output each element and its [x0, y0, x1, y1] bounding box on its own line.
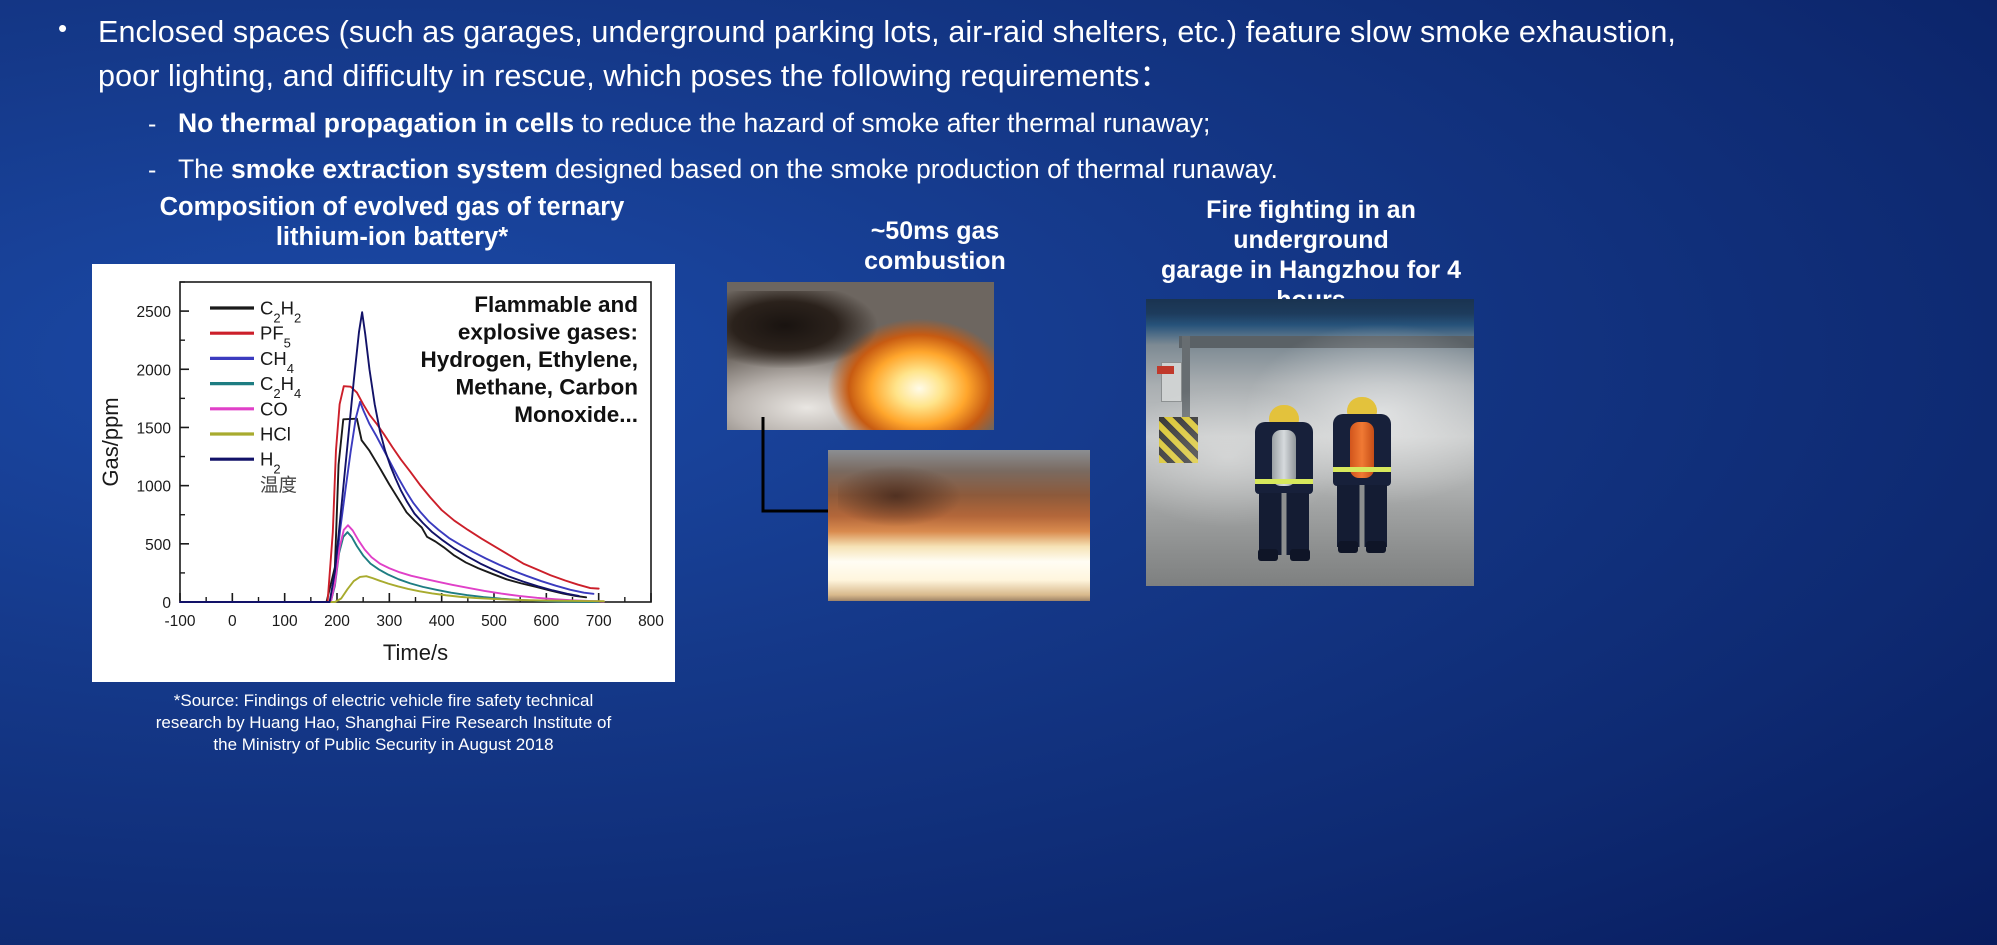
svg-text:2500: 2500	[137, 304, 172, 321]
chart-caption-line2: lithium-ion battery*	[276, 223, 508, 251]
sub-bullet-group: - No thermal propagation in cells to red…	[148, 104, 1938, 190]
chart-annotation-line-3: Hydrogen, Ethylene,	[420, 347, 638, 372]
chart-svg: 05001000150020002500-1000100200300400500…	[92, 264, 675, 682]
boot-left	[1338, 541, 1358, 553]
reflective-stripe	[1255, 479, 1313, 484]
sub-bullet-2-bold: smoke extraction system	[231, 154, 548, 184]
sub-bullet-2-pre: The	[178, 154, 231, 184]
gas-composition-chart: 05001000150020002500-1000100200300400500…	[92, 264, 675, 682]
legend-label-HCl: HCl	[260, 424, 291, 445]
leg-gap	[1282, 493, 1287, 555]
svg-text:700: 700	[586, 613, 612, 630]
svg-text:0: 0	[162, 595, 171, 612]
svg-text:200: 200	[324, 613, 350, 630]
garage-scene-art	[1146, 299, 1474, 586]
leg-gap	[1360, 485, 1365, 547]
svg-text:Time/s: Time/s	[383, 640, 448, 665]
air-tank	[1272, 430, 1296, 486]
dash-marker-icon: -	[148, 106, 178, 144]
svg-text:300: 300	[376, 613, 402, 630]
fire-image-art	[727, 282, 994, 430]
svg-text:-100: -100	[164, 613, 195, 630]
chart-annotation-line-2: explosive gases:	[458, 320, 638, 345]
chart-caption: Composition of evolved gas of ternary li…	[92, 192, 692, 252]
sub-bullet-2-rest: designed based on the smoke production o…	[548, 154, 1278, 184]
svg-text:100: 100	[272, 613, 298, 630]
svg-text:2000: 2000	[137, 362, 172, 379]
legend-label-CO: CO	[260, 398, 288, 419]
legend-label-temperature: 温度	[260, 476, 297, 497]
svg-text:500: 500	[145, 537, 171, 554]
combustion-caption: ~50ms gas combustion	[805, 216, 1065, 276]
slide-canvas: • Enclosed spaces (such as garages, unde…	[0, 0, 1997, 945]
boot-right	[1290, 549, 1310, 561]
boot-left	[1258, 549, 1278, 561]
svg-text:400: 400	[429, 613, 455, 630]
svg-text:Gas/ppm: Gas/ppm	[98, 398, 123, 487]
bullet-level1-line1: Enclosed spaces (such as garages, underg…	[98, 15, 1676, 49]
firefighting-caption-line1: Fire fighting in an underground	[1206, 196, 1416, 254]
source-note: *Source: Findings of electric vehicle fi…	[92, 690, 675, 755]
bullet-list: • Enclosed spaces (such as garages, unde…	[58, 10, 1938, 196]
sub-bullet-2-text: The smoke extraction system designed bas…	[178, 150, 1278, 190]
combustion-caption-line2: combustion	[864, 247, 1006, 275]
firefighting-panel: Fire fighting in an underground garage i…	[1146, 195, 1806, 345]
reflective-stripe	[1333, 467, 1391, 472]
svg-text:800: 800	[638, 613, 664, 630]
dash-marker-icon: -	[148, 152, 178, 190]
sub-bullet-1-bold: No thermal propagation in cells	[178, 108, 574, 138]
chart-panel: Composition of evolved gas of ternary li…	[92, 192, 692, 755]
chart-caption-line1: Composition of evolved gas of ternary	[160, 193, 625, 221]
combustion-caption-line1: ~50ms gas	[871, 217, 1000, 245]
sub-bullet-2: - The smoke extraction system designed b…	[148, 150, 1938, 190]
bullet-level1-line2: poor lighting, and difficulty in rescue,…	[98, 59, 1170, 93]
combustion-photo-bottom	[828, 450, 1090, 601]
bullet-level1-text: Enclosed spaces (such as garages, underg…	[98, 10, 1676, 98]
firefighters-photo	[1146, 299, 1474, 586]
bullet-level1: • Enclosed spaces (such as garages, unde…	[58, 10, 1938, 98]
svg-text:0: 0	[228, 613, 237, 630]
source-line-3: the Ministry of Public Security in Augus…	[213, 735, 553, 754]
chart-annotation-line-1: Flammable and	[474, 292, 638, 317]
svg-text:1500: 1500	[137, 421, 172, 438]
fire-closeup-image-art	[828, 450, 1090, 601]
svg-text:500: 500	[481, 613, 507, 630]
source-line-2: research by Huang Hao, Shanghai Fire Res…	[156, 713, 611, 732]
bullet-dot-icon: •	[58, 10, 98, 48]
sub-bullet-1-text: No thermal propagation in cells to reduc…	[178, 104, 1210, 144]
chart-annotation-line-5: Monoxide...	[514, 402, 638, 427]
svg-text:1000: 1000	[137, 479, 172, 496]
combustion-photo-top	[727, 282, 994, 430]
sub-bullet-1-rest: to reduce the hazard of smoke after ther…	[574, 108, 1210, 138]
boot-right	[1366, 541, 1386, 553]
sub-bullet-1: - No thermal propagation in cells to red…	[148, 104, 1938, 144]
source-line-1: *Source: Findings of electric vehicle fi…	[174, 691, 594, 710]
svg-text:600: 600	[533, 613, 559, 630]
chart-annotation-line-4: Methane, Carbon	[455, 375, 638, 400]
